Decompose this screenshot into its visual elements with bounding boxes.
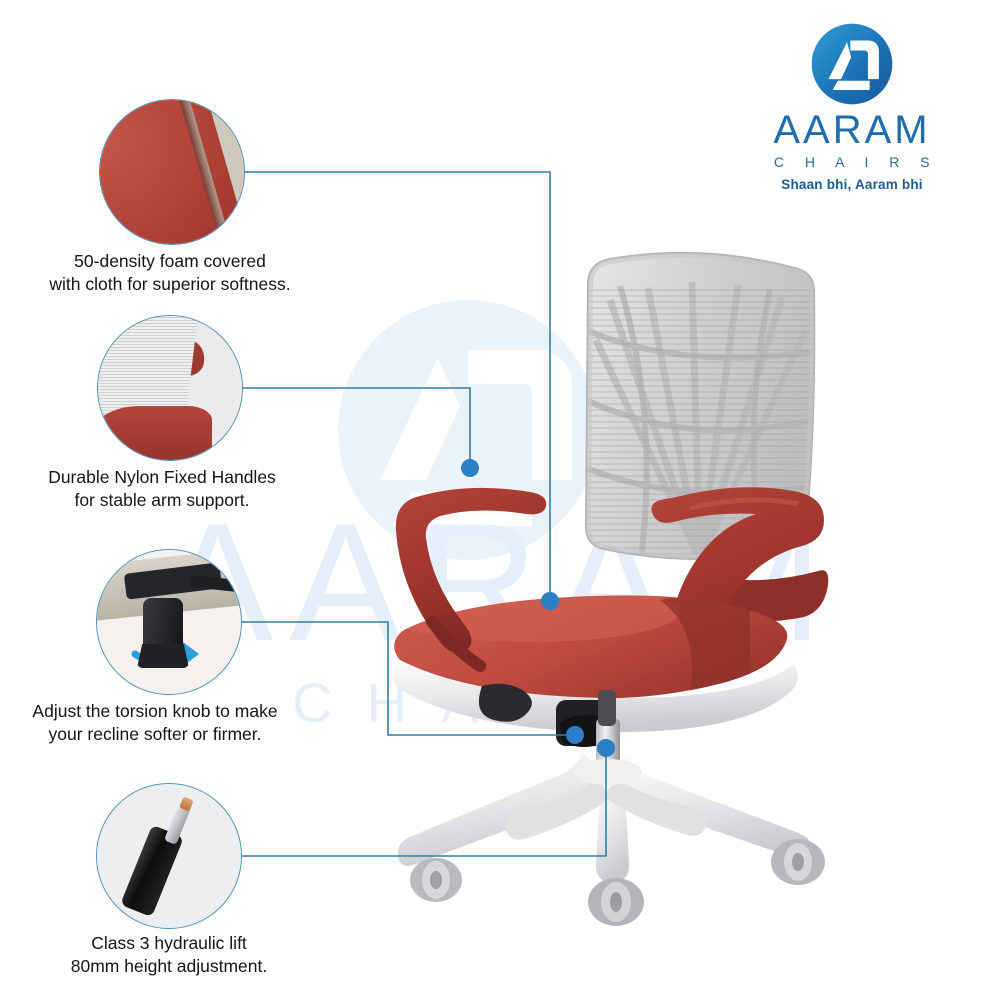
caption-foam: 50-density foam covered with cloth for s… [5, 250, 335, 297]
caption-handles: Durable Nylon Fixed Handles for stable a… [0, 466, 327, 513]
brand-logo: AARAM C H A I R S Shaan bhi, Aaram bhi [732, 22, 972, 192]
caption-hydraulic: Class 3 hydraulic lift 80mm height adjus… [4, 932, 334, 979]
brand-name: AARAM [732, 110, 972, 150]
gas-lift-cylinder-closeup-image[interactable] [96, 783, 242, 929]
foam-cushion-closeup-image[interactable] [99, 99, 245, 245]
aaram-circle-logo-icon [810, 22, 894, 106]
infographic-canvas: AARAM CHAIRS [0, 0, 1000, 1000]
nylon-armrest-closeup-image[interactable] [97, 315, 243, 461]
torsion-knob-closeup-image[interactable] [96, 549, 242, 695]
brand-subtitle: C H A I R S [732, 154, 972, 170]
caption-torsion: Adjust the torsion knob to make your rec… [0, 700, 320, 747]
brand-tagline: Shaan bhi, Aaram bhi [732, 177, 972, 192]
